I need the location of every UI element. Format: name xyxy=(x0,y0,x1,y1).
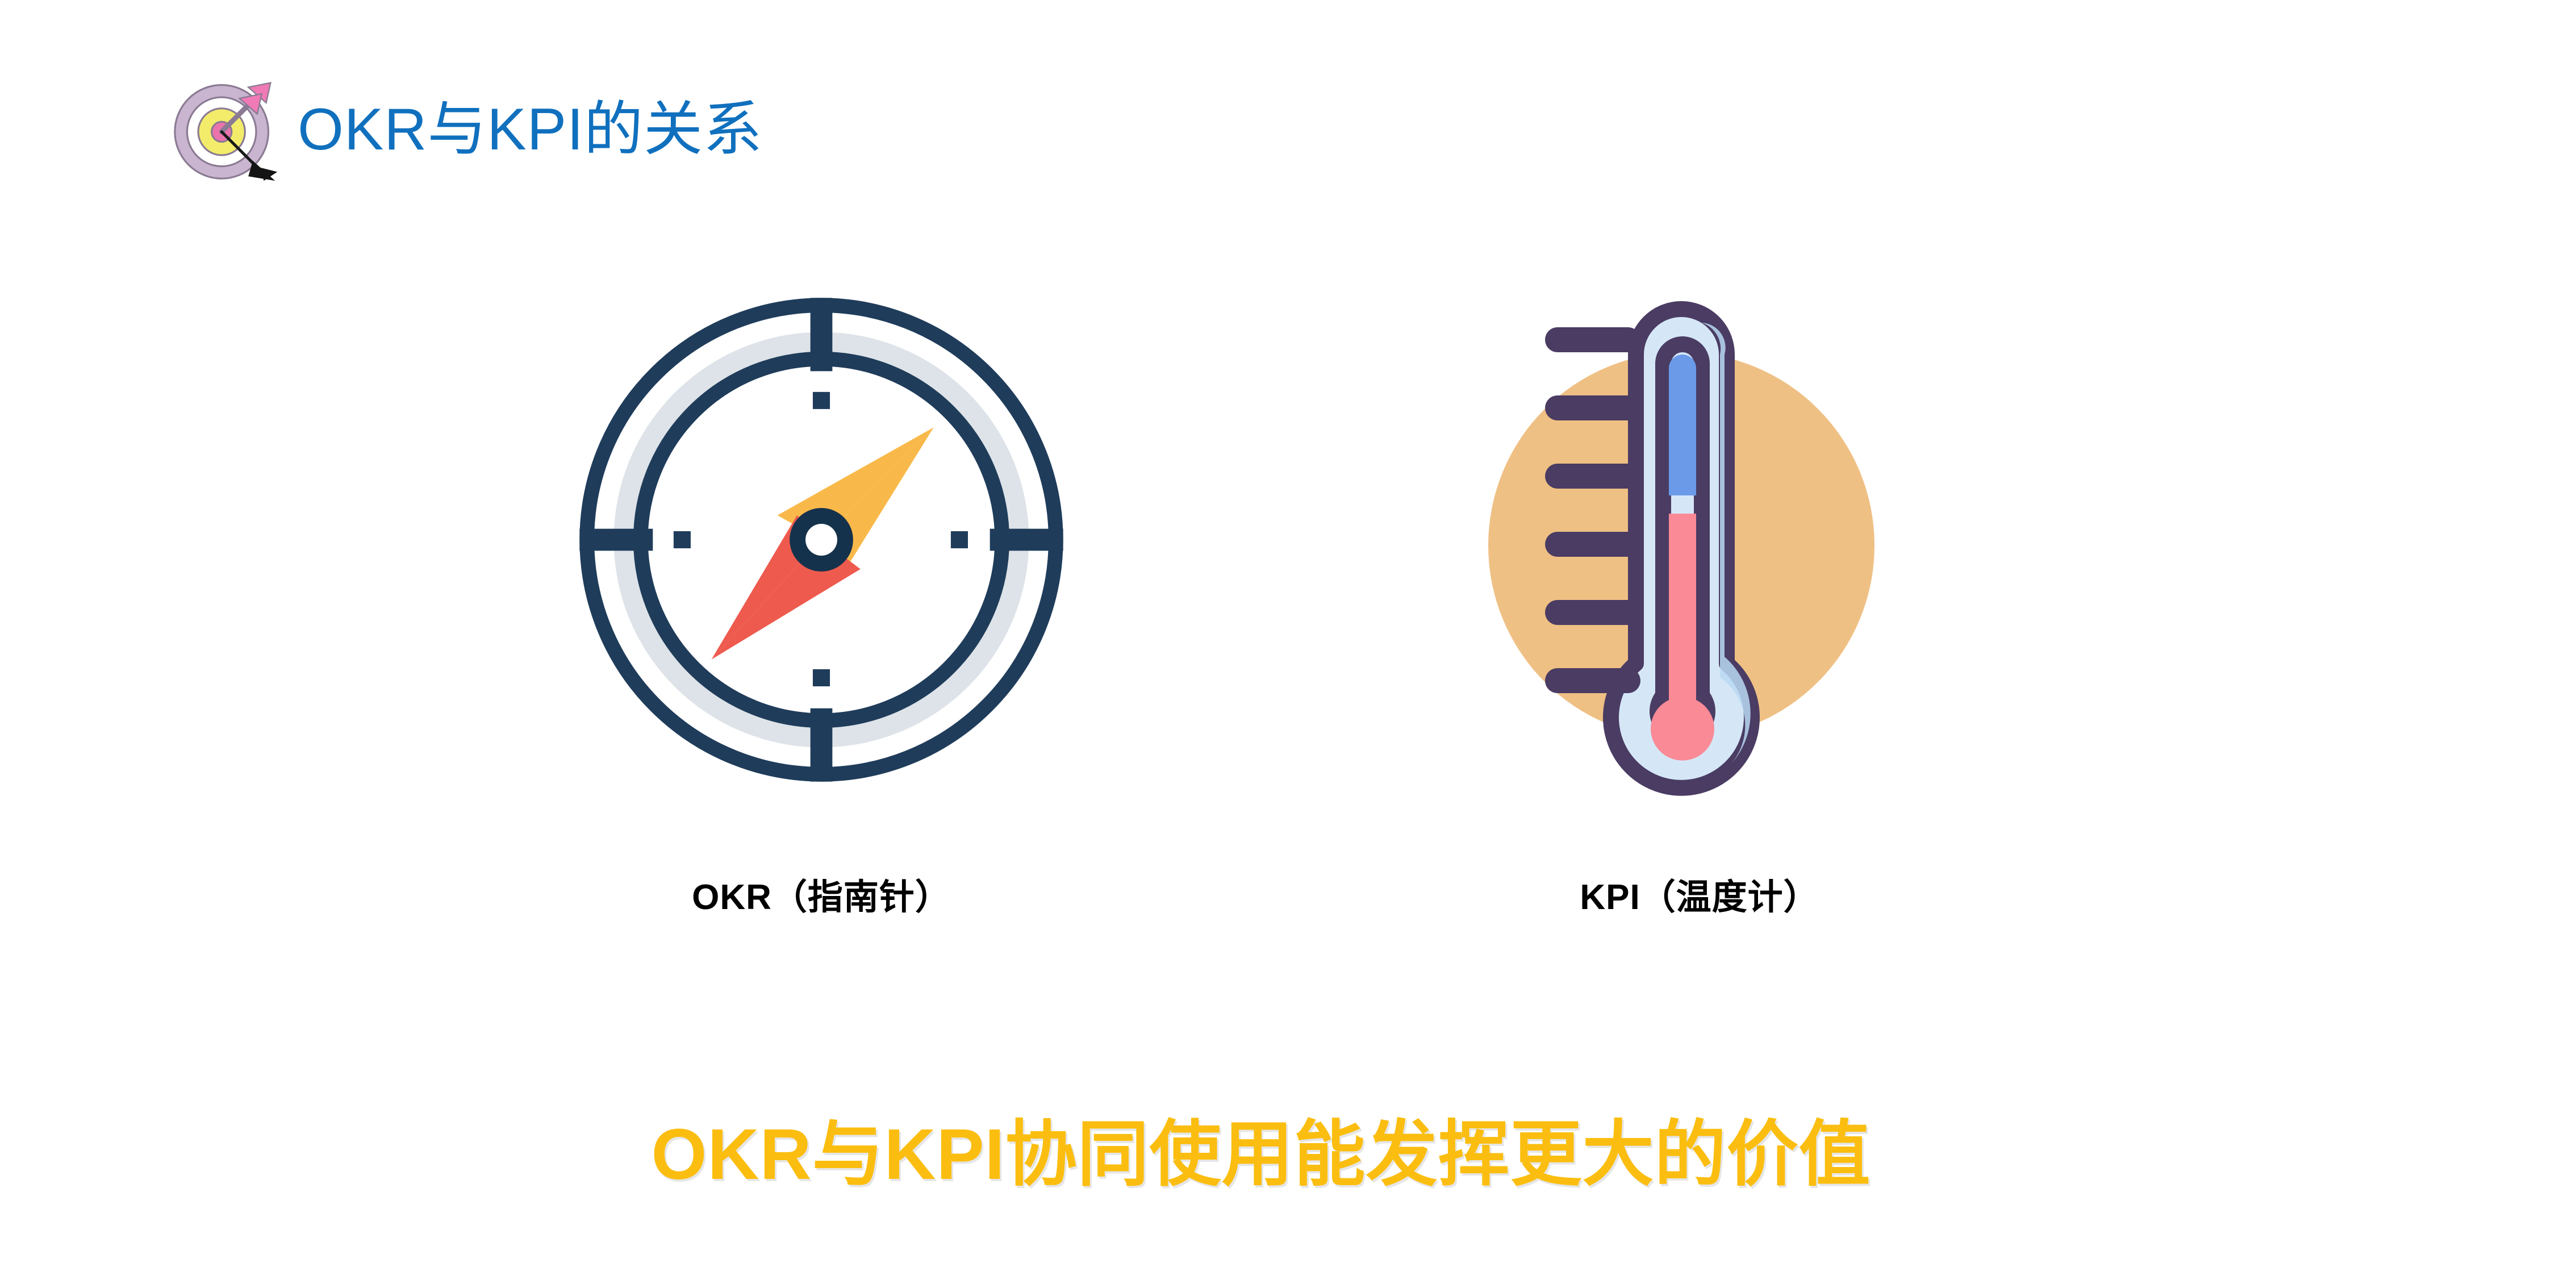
slide-root: OKR与KPI的关系 xyxy=(0,0,2576,1288)
illustration-row xyxy=(0,267,2576,812)
caption-kpi: KPI（温度计） xyxy=(1580,868,1819,919)
page-title: OKR与KPI的关系 xyxy=(298,100,763,159)
kpi-thermometer-figure xyxy=(1466,295,1897,807)
target-with-arrow-icon xyxy=(170,74,282,185)
caption-okr: OKR（指南针） xyxy=(692,868,951,919)
okr-compass-figure xyxy=(577,295,1066,784)
slide-header: OKR与KPI的关系 xyxy=(170,74,763,185)
footer-tagline: OKR与KPI协同使用能发挥更大的价值 xyxy=(651,1097,1871,1200)
thermometer-icon xyxy=(1466,295,1897,807)
compass-icon xyxy=(577,295,1066,784)
